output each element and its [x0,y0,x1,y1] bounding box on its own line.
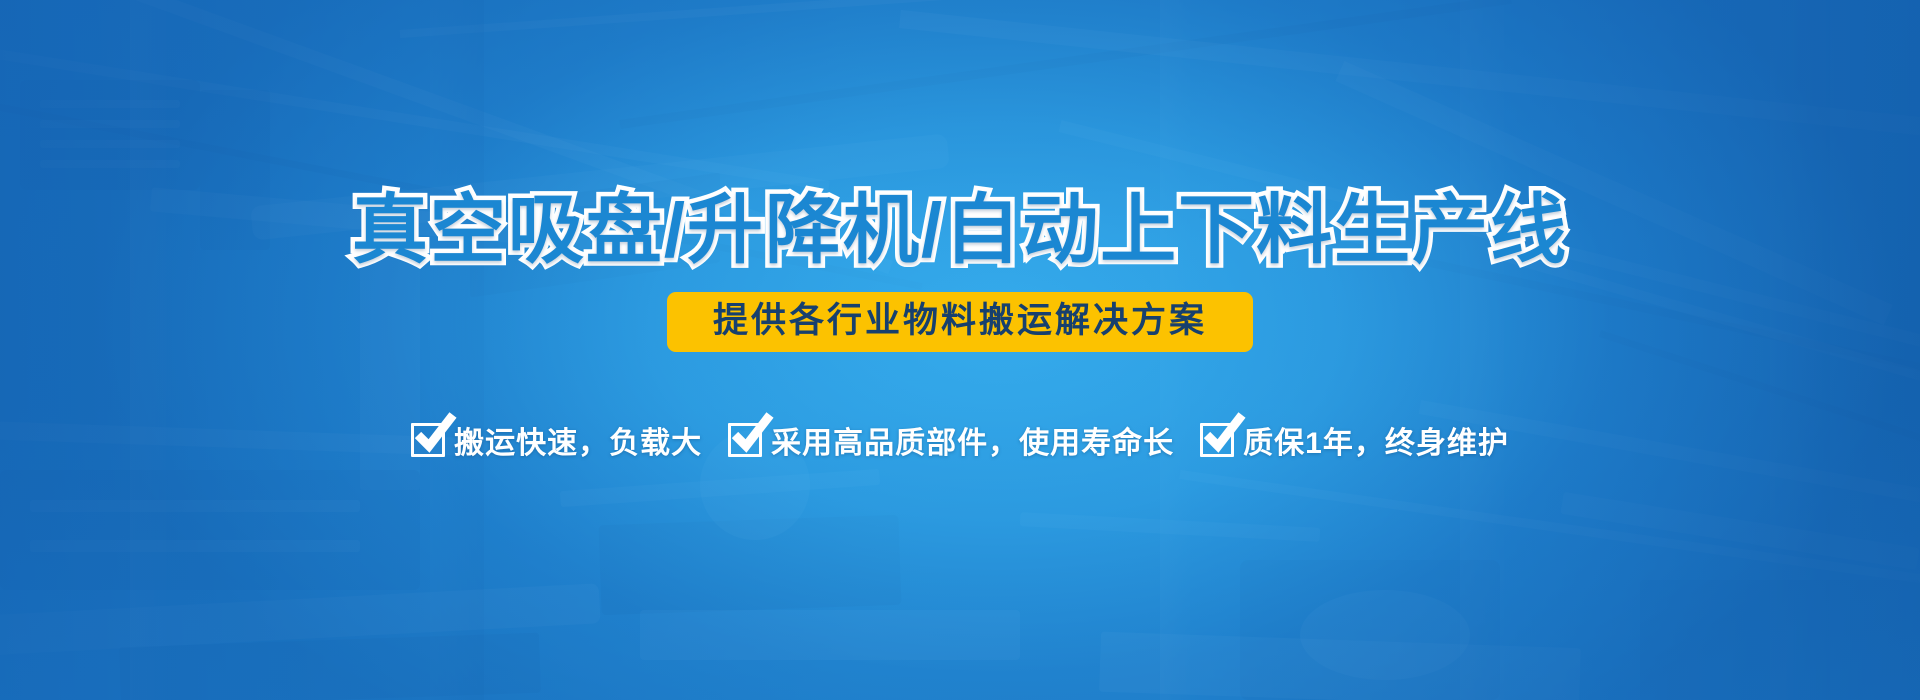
feature-label: 质保1年，终身维护 [1243,418,1509,462]
check-mark-icon [1200,423,1234,457]
feature-item: 质保1年，终身维护 [1200,418,1509,462]
feature-label: 搬运快速，负载大 [454,418,702,462]
feature-item: 采用高品质部件，使用寿命长 [728,418,1174,462]
promo-banner: 真空吸盘/升降机/自动上下料生产线 提供各行业物料搬运解决方案 搬运快速，负载大 [0,0,1920,700]
banner-subtitle-pill: 提供各行业物料搬运解决方案 [667,292,1253,352]
feature-label: 采用高品质部件，使用寿命长 [771,418,1174,462]
banner-title: 真空吸盘/升降机/自动上下料生产线 [0,193,1920,269]
check-mark-icon [411,423,445,457]
feature-item: 搬运快速，负载大 [411,418,702,462]
banner-subtitle-container: 提供各行业物料搬运解决方案 [0,292,1920,352]
banner-content: 真空吸盘/升降机/自动上下料生产线 提供各行业物料搬运解决方案 搬运快速，负载大 [0,0,1920,700]
check-mark-icon [728,423,762,457]
feature-list: 搬运快速，负载大 采用高品质部件，使用寿命长 质保1年，终身维护 [0,418,1920,462]
